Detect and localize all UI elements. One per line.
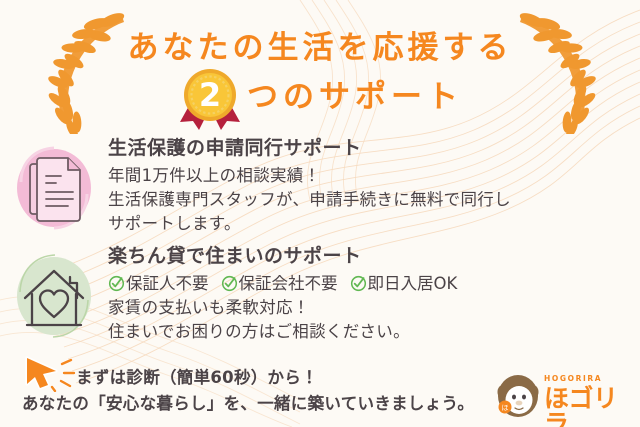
check-item-2: 保証会社不要 <box>221 272 338 296</box>
documents-icon <box>13 142 95 234</box>
svg-text:ほ: ほ <box>502 404 509 412</box>
welfare-line-3: サポートします。 <box>108 212 630 236</box>
welfare-line-1: 年間1万件以上の相談実績！ <box>108 164 630 188</box>
welfare-line-2: 生活保護専門スタッフが、申請手続きに無料で同行し <box>108 188 630 212</box>
housing-line-2: 住まいでお困りの方はご相談ください。 <box>108 320 630 344</box>
support-section-welfare: 生活保護の申請同行サポート 年間1万件以上の相談実績！ 生活保護専門スタッフが、… <box>0 138 640 236</box>
check-label-2: 保証会社不要 <box>239 272 338 296</box>
house-heart-icon-wrap <box>0 246 108 342</box>
check-label-1: 保証人不要 <box>126 272 209 296</box>
check-item-1: 保証人不要 <box>108 272 209 296</box>
brand-logo[interactable]: ほ HOGORIRA ほゴリラ <box>496 372 632 420</box>
footer-line-2: あなたの「安心な暮らし」を、一緒に築いていきましょう。 <box>22 390 474 414</box>
logo-wordmark: ほゴリラ <box>544 386 632 427</box>
footer-line-1: まずは診断（簡単60秒）から！ <box>76 364 318 388</box>
logo-romaji: HOGORIRA <box>544 375 632 383</box>
welfare-text-block: 生活保護の申請同行サポート 年間1万件以上の相談実績！ 生活保護専門スタッフが、… <box>108 138 640 236</box>
documents-icon-wrap <box>0 138 108 234</box>
headline-secondary-row: 2 つのサポート <box>0 64 640 130</box>
headline-secondary-text: つのサポート <box>247 82 463 113</box>
house-heart-icon <box>13 250 95 342</box>
support-section-housing: 楽ちん貸で住まいのサポート 保証人不要 <box>0 246 640 344</box>
housing-heading: 楽ちん貸で住まいのサポート <box>108 246 630 268</box>
medal-number: 2 <box>199 79 221 111</box>
housing-check-list: 保証人不要 保証会社不要 <box>108 272 630 296</box>
check-circle-icon <box>108 275 125 292</box>
housing-text-block: 楽ちん貸で住まいのサポート 保証人不要 <box>108 246 640 344</box>
check-circle-icon <box>221 275 238 292</box>
check-label-3: 即日入居OK <box>368 272 458 296</box>
headline-primary: あなたの生活を応援する <box>0 22 640 67</box>
click-cursor-icon <box>22 354 82 392</box>
housing-line-1: 家賃の支払いも柔軟対応！ <box>108 296 630 320</box>
check-item-3: 即日入居OK <box>350 272 458 296</box>
promo-banner: あなたの生活を応援する 2 つのサポート <box>0 0 640 427</box>
medal-badge-icon: 2 <box>177 64 243 130</box>
check-circle-icon <box>350 275 367 292</box>
welfare-heading: 生活保護の申請同行サポート <box>108 138 630 160</box>
banner-header: あなたの生活を応援する 2 つのサポート <box>0 0 640 134</box>
